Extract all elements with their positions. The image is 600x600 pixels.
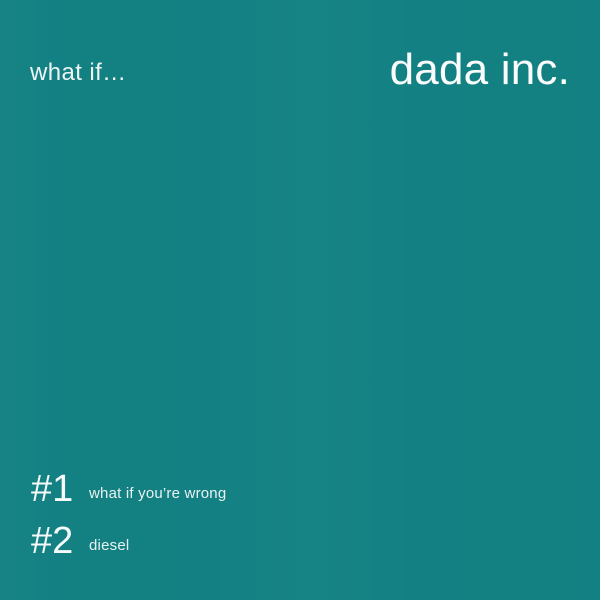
tracklist: #1 what if you’re wrong #2 diesel [31,470,226,560]
track-number: #2 [31,522,89,560]
track-row: #1 what if you’re wrong [31,470,226,508]
cover-header: what if… dada inc. [0,44,600,92]
track-number: #1 [31,470,89,508]
album-title: what if… [30,61,127,85]
artist-name: dada inc. [390,48,570,92]
album-cover: what if… dada inc. #1 what if you’re wro… [0,0,600,600]
track-title: diesel [89,538,129,553]
track-title: what if you’re wrong [89,486,226,501]
track-row: #2 diesel [31,522,226,560]
